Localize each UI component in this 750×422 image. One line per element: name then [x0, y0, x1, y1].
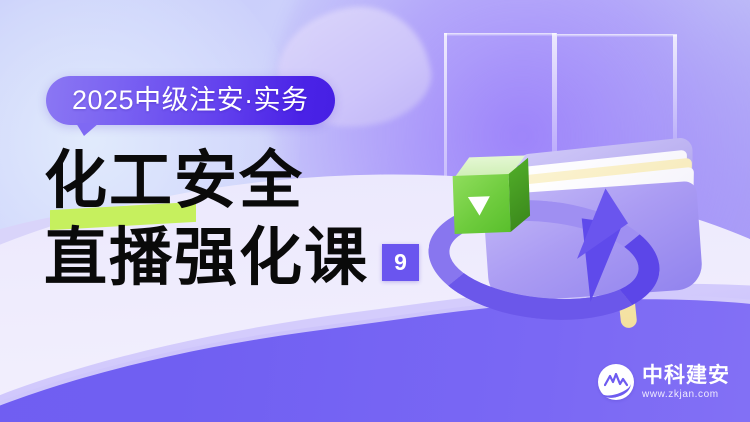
headline-group: 化工安全 直播强化课 9 [44, 150, 419, 290]
badge-tail-icon [76, 123, 99, 136]
headline-line-1: 化工安全 [44, 150, 304, 213]
episode-number-badge: 9 [382, 244, 419, 281]
headline-line-1-row: 化工安全 [44, 150, 419, 213]
headline-line-2-row: 直播强化课 9 [44, 227, 419, 290]
brand-logo: 中科建安 www.zkjan.com [598, 364, 730, 400]
brand-website: www.zkjan.com [642, 390, 730, 400]
headline-line-2: 直播强化课 [44, 227, 369, 290]
hero-illustration [400, 20, 750, 360]
zkjan-logo-icon [598, 364, 634, 400]
episode-number-value: 9 [394, 251, 407, 274]
course-badge-pill: 2025中级注安·实务 [46, 76, 335, 125]
course-promo-banner: 2025中级注安·实务 化工安全 直播强化课 9 中科建安 [0, 0, 750, 422]
course-badge: 2025中级注安·实务 [46, 76, 335, 125]
play-triangle-icon [468, 196, 491, 216]
course-badge-label: 2025中级注安·实务 [72, 87, 309, 114]
brand-name: 中科建安 [642, 365, 730, 386]
brand-logo-text: 中科建安 www.zkjan.com [642, 365, 730, 400]
